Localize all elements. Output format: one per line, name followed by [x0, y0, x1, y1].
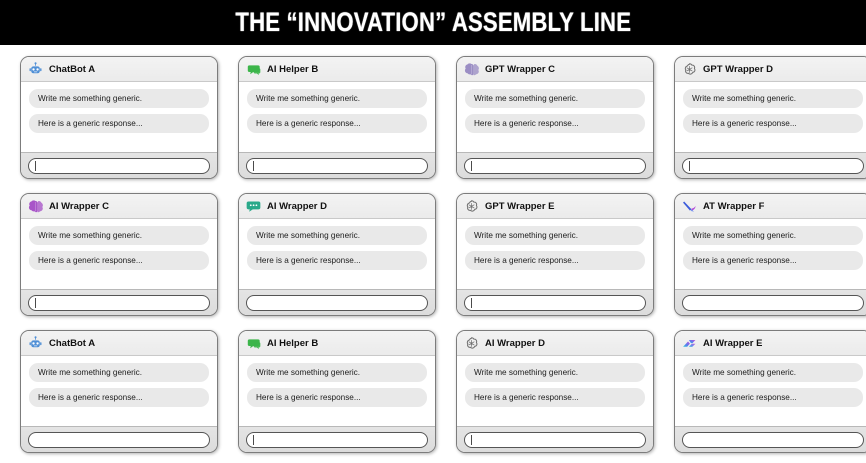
card-header: GPT Wrapper D: [675, 57, 866, 82]
speech-bubble-icon: [246, 336, 261, 351]
bot-message-bubble: Here is a generic response...: [29, 251, 209, 270]
text-caret: [253, 435, 254, 445]
chat-card: GPT Wrapper CWrite me something generic.…: [456, 56, 654, 179]
text-caret: [471, 161, 472, 171]
bot-message-bubble: Here is a generic response...: [465, 251, 645, 270]
composer-bar: [675, 152, 866, 178]
composer-bar: [675, 426, 866, 452]
text-caret: [471, 435, 472, 445]
openai-swirl-icon: [464, 336, 479, 351]
composer-bar: [21, 426, 217, 452]
card-header: AI Wrapper E: [675, 331, 866, 356]
chat-card: AI Wrapper CWrite me something generic.H…: [20, 193, 218, 316]
text-caret: [35, 161, 36, 171]
message-input[interactable]: [246, 158, 428, 174]
chat-card-grid: ChatBot AWrite me something generic.Here…: [0, 45, 866, 453]
chat-card: AI Helper BWrite me something generic.He…: [238, 330, 436, 453]
composer-bar: [457, 289, 653, 315]
user-message-bubble: Write me something generic.: [465, 89, 645, 108]
chat-card: AI Wrapper DWrite me something generic.H…: [238, 193, 436, 316]
chat-card: AT Wrapper FWrite me something generic.H…: [674, 193, 866, 316]
brain-icon: [28, 199, 43, 214]
message-input[interactable]: [28, 158, 210, 174]
card-title: AI Helper B: [267, 338, 318, 349]
user-message-bubble: Write me something generic.: [683, 89, 863, 108]
typing-bubble-icon: [246, 199, 261, 214]
page-title: THE “INNOVATION” ASSEMBLY LINE: [235, 7, 631, 38]
chat-card: AI Wrapper DWrite me something generic.H…: [456, 330, 654, 453]
chat-card: AI Helper BWrite me something generic.He…: [238, 56, 436, 179]
chat-card: ChatBot AWrite me something generic.Here…: [20, 330, 218, 453]
user-message-bubble: Write me something generic.: [247, 89, 427, 108]
bot-message-bubble: Here is a generic response...: [247, 251, 427, 270]
message-input[interactable]: [246, 432, 428, 448]
user-message-bubble: Write me something generic.: [29, 363, 209, 382]
robot-icon: [28, 336, 43, 351]
user-message-bubble: Write me something generic.: [683, 226, 863, 245]
robot-icon: [28, 62, 43, 77]
card-header: ChatBot A: [21, 331, 217, 356]
card-header: ChatBot A: [21, 57, 217, 82]
chat-card: AI Wrapper EWrite me something generic.H…: [674, 330, 866, 453]
message-list: Write me something generic.Here is a gen…: [457, 82, 653, 152]
message-list: Write me something generic.Here is a gen…: [21, 219, 217, 289]
message-list: Write me something generic.Here is a gen…: [675, 82, 866, 152]
message-input[interactable]: [28, 432, 210, 448]
message-list: Write me something generic.Here is a gen…: [239, 219, 435, 289]
composer-bar: [239, 152, 435, 178]
card-title: AI Wrapper D: [267, 201, 327, 212]
bot-message-bubble: Here is a generic response...: [247, 388, 427, 407]
bot-message-bubble: Here is a generic response...: [29, 388, 209, 407]
sparkle-streak-icon: [682, 199, 697, 214]
gradient-swoosh-icon: [682, 336, 697, 351]
card-title: GPT Wrapper E: [485, 201, 555, 212]
bot-message-bubble: Here is a generic response...: [683, 251, 863, 270]
openai-swirl-icon: [682, 62, 697, 77]
openai-swirl-icon: [464, 199, 479, 214]
card-header: AI Helper B: [239, 331, 435, 356]
card-title: AI Wrapper D: [485, 338, 545, 349]
card-title: AI Wrapper C: [49, 201, 109, 212]
bot-message-bubble: Here is a generic response...: [29, 114, 209, 133]
card-title: AT Wrapper F: [703, 201, 764, 212]
card-header: AT Wrapper F: [675, 194, 866, 219]
message-input[interactable]: [682, 432, 864, 448]
message-list: Write me something generic.Here is a gen…: [239, 356, 435, 426]
message-list: Write me something generic.Here is a gen…: [675, 219, 866, 289]
speech-bubble-icon: [246, 62, 261, 77]
composer-bar: [239, 289, 435, 315]
text-caret: [253, 161, 254, 171]
text-caret: [471, 298, 472, 308]
card-title: GPT Wrapper C: [485, 64, 555, 75]
message-list: Write me something generic.Here is a gen…: [675, 356, 866, 426]
composer-bar: [457, 426, 653, 452]
composer-bar: [21, 152, 217, 178]
card-header: AI Wrapper D: [239, 194, 435, 219]
card-title: AI Wrapper E: [703, 338, 762, 349]
message-list: Write me something generic.Here is a gen…: [457, 356, 653, 426]
user-message-bubble: Write me something generic.: [247, 226, 427, 245]
message-input[interactable]: [464, 158, 646, 174]
user-message-bubble: Write me something generic.: [683, 363, 863, 382]
bot-message-bubble: Here is a generic response...: [683, 388, 863, 407]
user-message-bubble: Write me something generic.: [29, 89, 209, 108]
user-message-bubble: Write me something generic.: [465, 363, 645, 382]
message-list: Write me something generic.Here is a gen…: [21, 82, 217, 152]
card-header: GPT Wrapper C: [457, 57, 653, 82]
chat-card: GPT Wrapper EWrite me something generic.…: [456, 193, 654, 316]
card-header: AI Wrapper C: [21, 194, 217, 219]
title-banner: THE “INNOVATION” ASSEMBLY LINE: [0, 0, 866, 45]
message-input[interactable]: [682, 295, 864, 311]
composer-bar: [675, 289, 866, 315]
message-input[interactable]: [246, 295, 428, 311]
message-list: Write me something generic.Here is a gen…: [457, 219, 653, 289]
message-input[interactable]: [28, 295, 210, 311]
text-caret: [35, 298, 36, 308]
bot-message-bubble: Here is a generic response...: [465, 388, 645, 407]
message-input[interactable]: [682, 158, 864, 174]
message-list: Write me something generic.Here is a gen…: [239, 82, 435, 152]
card-title: ChatBot A: [49, 338, 95, 349]
user-message-bubble: Write me something generic.: [247, 363, 427, 382]
message-input[interactable]: [464, 432, 646, 448]
card-title: AI Helper B: [267, 64, 318, 75]
brain-icon: [464, 62, 479, 77]
bot-message-bubble: Here is a generic response...: [683, 114, 863, 133]
card-header: AI Helper B: [239, 57, 435, 82]
bot-message-bubble: Here is a generic response...: [465, 114, 645, 133]
bot-message-bubble: Here is a generic response...: [247, 114, 427, 133]
chat-card: ChatBot AWrite me something generic.Here…: [20, 56, 218, 179]
card-title: GPT Wrapper D: [703, 64, 773, 75]
message-input[interactable]: [464, 295, 646, 311]
composer-bar: [21, 289, 217, 315]
chat-card: GPT Wrapper DWrite me something generic.…: [674, 56, 866, 179]
message-list: Write me something generic.Here is a gen…: [21, 356, 217, 426]
card-header: GPT Wrapper E: [457, 194, 653, 219]
user-message-bubble: Write me something generic.: [465, 226, 645, 245]
card-header: AI Wrapper D: [457, 331, 653, 356]
text-caret: [689, 161, 690, 171]
composer-bar: [457, 152, 653, 178]
composer-bar: [239, 426, 435, 452]
card-title: ChatBot A: [49, 64, 95, 75]
user-message-bubble: Write me something generic.: [29, 226, 209, 245]
